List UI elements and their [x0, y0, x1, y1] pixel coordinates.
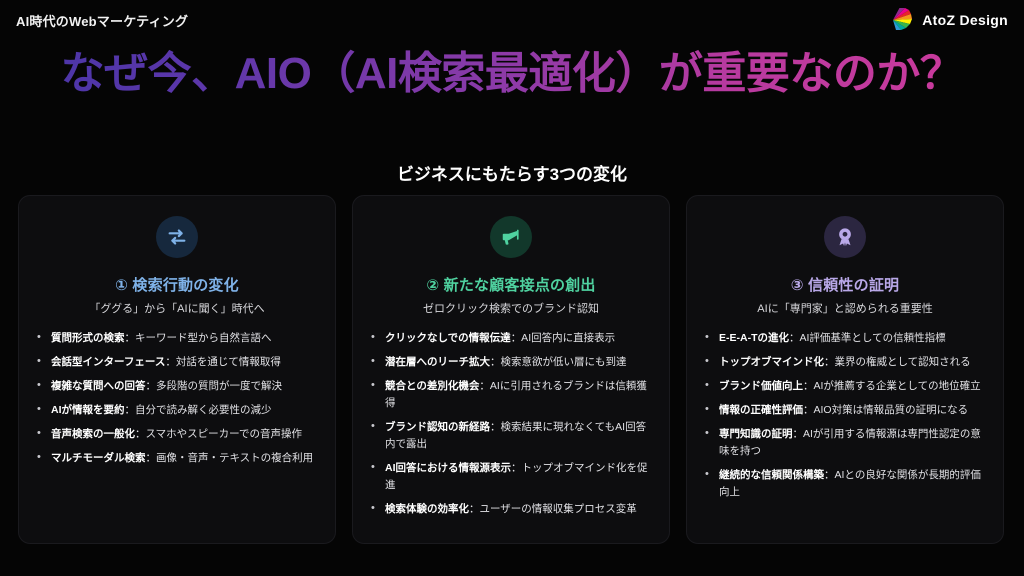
exchange-arrows-icon [166, 226, 188, 248]
page-title: なぜ今、AIO（AI検索最適化）が重要なのか？ [40, 47, 984, 101]
bullet-desc: ：AI評価基準としての信頼性指標 [789, 332, 946, 344]
card-icon-badge [490, 216, 532, 258]
card-search-behavior: ① 検索行動の変化 「ググる」から「AIに聞く」時代へ 質問形式の検索：キーワー… [18, 195, 336, 544]
bullet-desc: ：スマホやスピーカーでの音声操作 [135, 428, 302, 440]
bullet-term: 会話型インターフェース [51, 356, 165, 368]
list-item: 情報の正確性評価：AIO対策は情報品質の証明になる [717, 402, 987, 419]
list-item: 質問形式の検索：キーワード型から自然言語へ [49, 330, 319, 347]
card-icon-badge [824, 216, 866, 258]
page-subtitle: ビジネスにもたらす3つの変化 [0, 160, 1024, 185]
bullet-term: AI回答における情報源表示 [385, 462, 511, 474]
slide-header: AI時代のWebマーケティング AtoZ Design [0, 0, 1024, 40]
bullet-term: クリックなしでの情報伝達 [385, 332, 511, 344]
bullet-desc: ：業界の権威として認知される [824, 356, 971, 368]
bullet-desc: ：ユーザーの情報収集プロセス変革 [469, 503, 637, 515]
list-item: 継続的な信頼関係構築：AIとの良好な関係が長期的評価向上 [717, 467, 987, 501]
card-icon-badge [156, 216, 198, 258]
card-title: ② 新たな顧客接点の創出 [367, 274, 655, 295]
bullet-term: ブランド認知の新経路 [385, 421, 490, 433]
list-item: トップオブマインド化：業界の権威として認知される [717, 354, 987, 371]
card-subtitle: 「ググる」から「AIに聞く」時代へ [33, 300, 321, 316]
bullet-term: 継続的な信頼関係構築 [719, 469, 824, 481]
bullet-term: トップオブマインド化 [719, 356, 824, 368]
bullet-term: マルチモーダル検索 [51, 452, 146, 464]
list-item: 潜在層へのリーチ拡大：検索意欲が低い層にも到達 [383, 354, 653, 371]
bullet-desc: ：キーワード型から自然言語へ [125, 332, 272, 344]
bullet-desc: ：検索意欲が低い層にも到達 [490, 356, 627, 368]
brand-logo: AtoZ Design [889, 8, 1008, 32]
card-bullet-list: クリックなしでの情報伝達：AI回答内に直接表示 潜在層へのリーチ拡大：検索意欲が… [367, 330, 655, 518]
card-bullet-list: E-E-A-Tの進化：AI評価基準としての信頼性指標 トップオブマインド化：業界… [701, 330, 989, 501]
bullet-term: 潜在層へのリーチ拡大 [385, 356, 490, 368]
bullet-term: 音声検索の一般化 [51, 428, 135, 440]
color-burst-logo-icon [889, 8, 915, 32]
list-item: E-E-A-Tの進化：AI評価基準としての信頼性指標 [717, 330, 987, 347]
bullet-term: E-E-A-Tの進化 [719, 332, 789, 344]
card-subtitle: AIに「専門家」と認められる重要性 [701, 300, 989, 316]
bullet-desc: ：画像・音声・テキストの複合利用 [146, 452, 314, 464]
bullet-desc: ：多段階の質問が一度で解決 [146, 380, 283, 392]
title-block: なぜ今、AIO（AI検索最適化）が重要なのか？ [40, 47, 984, 101]
list-item: クリックなしでの情報伝達：AI回答内に直接表示 [383, 330, 653, 347]
card-new-touchpoints: ② 新たな顧客接点の創出 ゼロクリック検索でのブランド認知 クリックなしでの情報… [352, 195, 670, 544]
bullet-desc: ：対話を通じて情報取得 [165, 356, 281, 368]
bullet-desc: ：自分で読み解く必要性の減少 [125, 404, 272, 416]
bullet-term: 検索体験の効率化 [385, 503, 469, 515]
list-item: 音声検索の一般化：スマホやスピーカーでの音声操作 [49, 426, 319, 443]
card-bullet-list: 質問形式の検索：キーワード型から自然言語へ 会話型インターフェース：対話を通じて… [33, 330, 321, 467]
bullet-term: 複雑な質問への回答 [51, 380, 146, 392]
list-item: AI回答における情報源表示：トップオブマインド化を促進 [383, 460, 653, 494]
list-item: ブランド価値向上：AIが推薦する企業としての地位確立 [717, 378, 987, 395]
list-item: AIが情報を要約：自分で読み解く必要性の減少 [49, 402, 319, 419]
brand-logo-text: AtoZ Design [922, 12, 1008, 28]
bullet-desc: ：AIO対策は情報品質の証明になる [803, 404, 968, 416]
award-rosette-icon [834, 226, 856, 248]
list-item: 競合との差別化機会：AIに引用されるブランドは信頼獲得 [383, 378, 653, 412]
card-title: ① 検索行動の変化 [33, 274, 321, 295]
list-item: 検索体験の効率化：ユーザーの情報収集プロセス変革 [383, 501, 653, 518]
bullet-term: 競合との差別化機会 [385, 380, 479, 392]
card-subtitle: ゼロクリック検索でのブランド認知 [367, 300, 655, 316]
megaphone-icon [500, 226, 522, 248]
bullet-term: AIが情報を要約 [51, 404, 125, 416]
bullet-desc: ：AIが推薦する企業としての地位確立 [803, 380, 981, 392]
card-title: ③ 信頼性の証明 [701, 274, 989, 295]
bullet-desc: ：AI回答内に直接表示 [511, 332, 615, 344]
bullet-term: 専門知識の証明 [719, 428, 793, 440]
bullet-term: 質問形式の検索 [51, 332, 125, 344]
list-item: ブランド認知の新経路：検索結果に現れなくてもAI回答内で露出 [383, 419, 653, 453]
bullet-term: ブランド価値向上 [719, 380, 803, 392]
card-credibility-proof: ③ 信頼性の証明 AIに「専門家」と認められる重要性 E-E-A-Tの進化：AI… [686, 195, 1004, 544]
header-eyebrow: AI時代のWebマーケティング [16, 11, 188, 30]
cards-row: ① 検索行動の変化 「ググる」から「AIに聞く」時代へ 質問形式の検索：キーワー… [18, 195, 1006, 544]
slide-root: AI時代のWebマーケティング AtoZ Design [0, 0, 1024, 576]
list-item: 専門知識の証明：AIが引用する情報源は専門性認定の意味を持つ [717, 426, 987, 460]
list-item: 会話型インターフェース：対話を通じて情報取得 [49, 354, 319, 371]
bullet-term: 情報の正確性評価 [719, 404, 803, 416]
list-item: 複雑な質問への回答：多段階の質問が一度で解決 [49, 378, 319, 395]
list-item: マルチモーダル検索：画像・音声・テキストの複合利用 [49, 450, 319, 467]
